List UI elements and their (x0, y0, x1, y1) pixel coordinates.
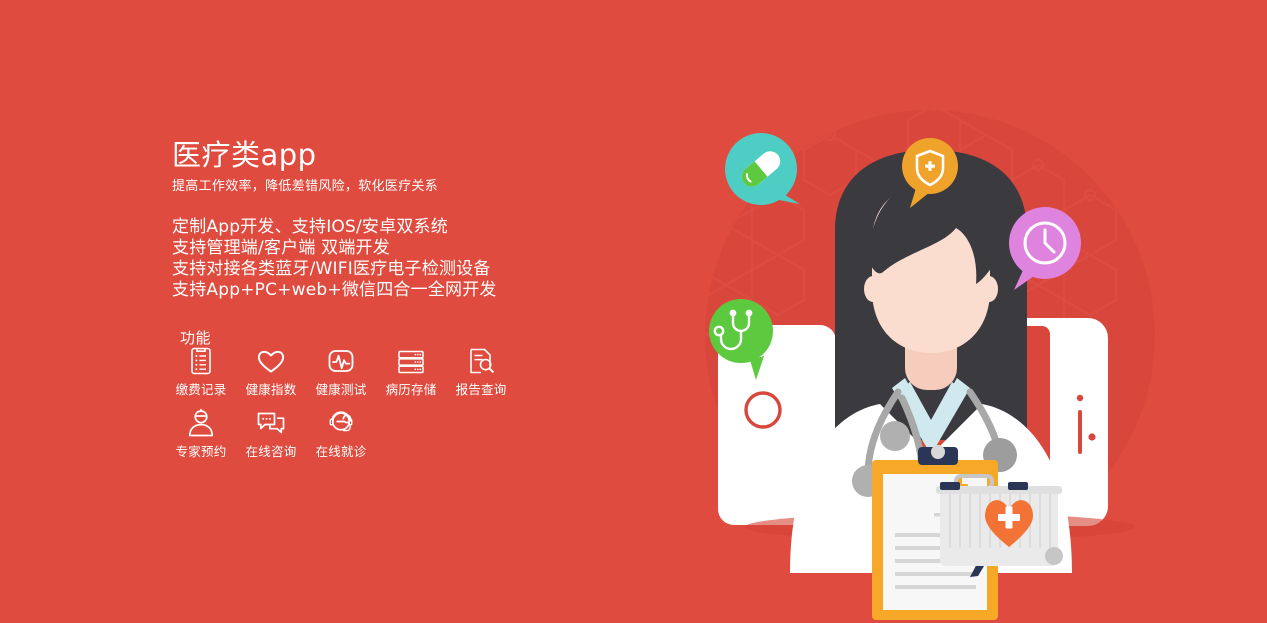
doctor-person-icon (184, 406, 218, 440)
feature-label: 健康测试 (316, 383, 367, 397)
feature-item-record-storage[interactable]: 病历存储 (376, 344, 446, 397)
feature-label: 健康指数 (246, 383, 297, 397)
feature-row-2: 专家预约 在线咨询 (166, 406, 546, 459)
heart-outline-icon (254, 344, 288, 378)
feature-label: 在线就诊 (316, 445, 367, 459)
document-search-icon (464, 344, 498, 378)
first-aid-kit (936, 476, 1063, 566)
hero-bullet: 定制App开发、支持IOS/安卓双系统 (172, 217, 602, 238)
feature-label: 报告查询 (456, 383, 507, 397)
feature-label: 病历存储 (386, 383, 437, 397)
hero-bullet: 支持对接各类蓝牙/WIFI医疗电子检测设备 (172, 259, 602, 280)
feature-item-online-treatment[interactable]: 在线就诊 (306, 406, 376, 459)
hero-subtitle: 提高工作效率，降低差错风险，软化医疗关系 (172, 178, 602, 195)
page-title: 医疗类app (172, 138, 602, 172)
feature-item-health-index[interactable]: 健康指数 (236, 344, 306, 397)
hero-bullet: 支持App+PC+web+微信四合一全网开发 (172, 280, 602, 301)
feature-grid: 缴费记录 健康指数 健康测试 (166, 344, 546, 459)
feature-label: 在线咨询 (246, 445, 297, 459)
feature-item-online-consult[interactable]: 在线咨询 (236, 406, 306, 459)
hero-bullet-list: 定制App开发、支持IOS/安卓双系统 支持管理端/客户端 双端开发 支持对接各… (172, 217, 602, 301)
hero-bullet: 支持管理端/客户端 双端开发 (172, 238, 602, 259)
feature-item-payment-records[interactable]: 缴费记录 (166, 344, 236, 397)
clipboard-list-icon (184, 344, 218, 378)
feature-item-health-test[interactable]: 健康测试 (306, 344, 376, 397)
feature-row-1: 缴费记录 健康指数 健康测试 (166, 344, 546, 397)
feature-label: 缴费记录 (176, 383, 227, 397)
hero-text-column: 医疗类app 提高工作效率，降低差错风险，软化医疗关系 定制App开发、支持IO… (172, 138, 602, 348)
feature-item-report-query[interactable]: 报告查询 (446, 344, 516, 397)
feature-item-expert-appointment[interactable]: 专家预约 (166, 406, 236, 459)
medical-app-doctor-illustration (640, 0, 1267, 623)
pulse-monitor-icon (324, 344, 358, 378)
feature-label: 专家预约 (176, 445, 227, 459)
hero-banner: 医疗类app 提高工作效率，降低差错风险，软化医疗关系 定制App开发、支持IO… (0, 0, 1267, 623)
chat-bubbles-icon (254, 406, 288, 440)
server-records-icon (394, 344, 428, 378)
headset-support-icon (324, 406, 358, 440)
